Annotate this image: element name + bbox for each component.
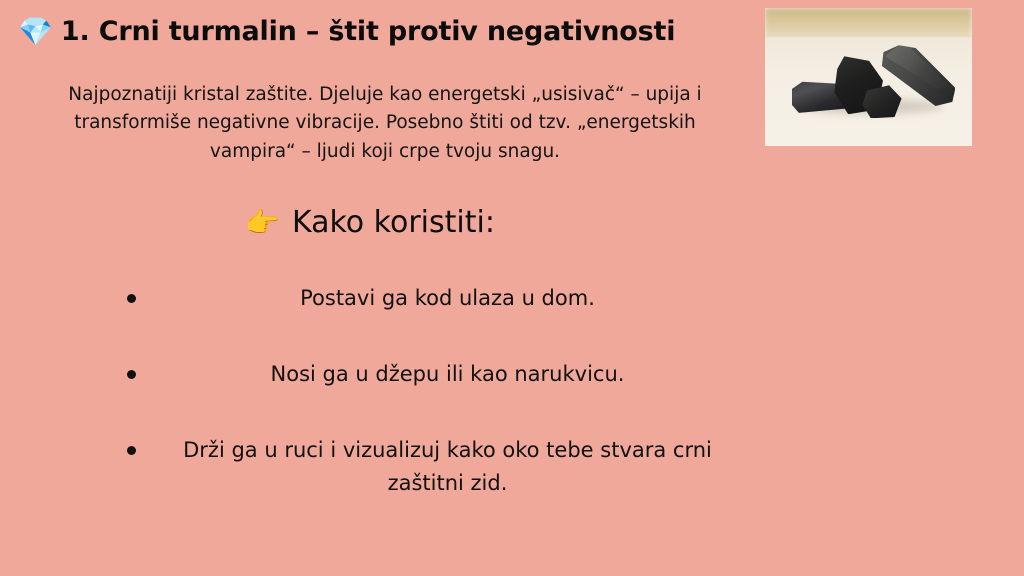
list-item: Nosi ga u džepu ili kao narukvicu. — [0, 358, 760, 420]
list-item-label: Postavi ga kod ulaza u dom. — [0, 282, 760, 315]
list-item: Postavi ga kod ulaza u dom. — [0, 282, 760, 344]
howto-heading-text: Kako koristiti: — [292, 206, 495, 239]
intro-paragraph: Najpoznatiji kristal zaštite. Djeluje ka… — [40, 81, 730, 167]
gem-stone-icon: 💎 — [18, 18, 53, 46]
howto-heading: 👉 Kako koristiti: — [0, 206, 740, 239]
black-tourmaline-photo — [765, 8, 972, 146]
list-item-label: Drži ga u ruci i vizualizuj kako oko teb… — [0, 434, 760, 499]
page-title-text: 1. Crni turmalin – štit protiv negativno… — [61, 16, 675, 47]
bullet-marker-icon — [127, 370, 136, 379]
list-item: Drži ga u ruci i vizualizuj kako oko teb… — [0, 434, 760, 499]
howto-bullet-list: Postavi ga kod ulaza u dom. Nosi ga u dž… — [0, 282, 760, 502]
slide-canvas: 💎 1. Crni turmalin – štit protiv negativ… — [0, 0, 1024, 576]
page-title: 💎 1. Crni turmalin – štit protiv negativ… — [18, 16, 738, 47]
bullet-marker-icon — [127, 294, 136, 303]
list-item-label: Nosi ga u džepu ili kao narukvicu. — [0, 358, 760, 391]
pointing-hand-icon: 👉 — [245, 209, 280, 237]
bullet-marker-icon — [127, 446, 136, 455]
photo-background-band — [765, 8, 972, 40]
